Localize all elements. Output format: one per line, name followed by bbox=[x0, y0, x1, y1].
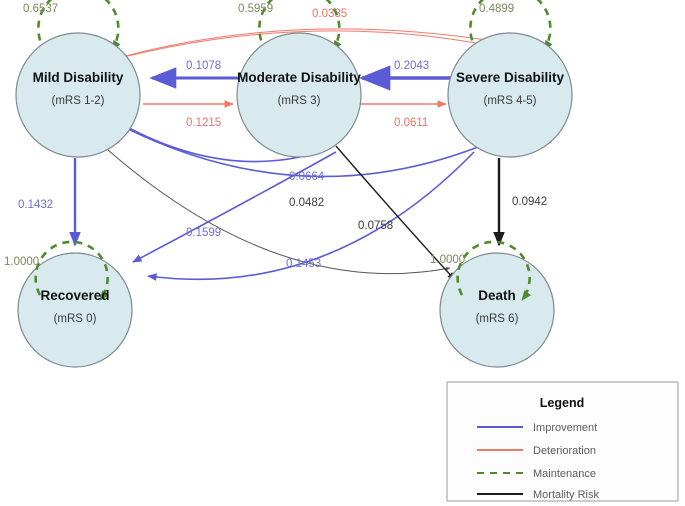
node-circle-death[interactable] bbox=[440, 253, 554, 367]
label-edge-severe-death-diag: 0.0758 bbox=[358, 220, 393, 232]
label-self-loop-severe: 0.4899 bbox=[479, 3, 514, 15]
legend-label-improvement: Improvement bbox=[533, 422, 597, 434]
label-self-loop-recovered: 1.0000 bbox=[4, 256, 39, 268]
node-severe[interactable]: Severe Disability (mRS 4-5) bbox=[448, 33, 572, 157]
label-self-loop-death: 1.0000 bbox=[430, 254, 465, 266]
node-label-death: Death bbox=[478, 288, 516, 303]
label-edge-severe-recovered: 0.1453 bbox=[286, 258, 321, 270]
node-label-moderate: Moderate Disability bbox=[237, 70, 361, 85]
label-self-loop-moderate-deterioration: 0.0335 bbox=[312, 8, 347, 20]
legend-label-deterioration: Deterioration bbox=[533, 445, 596, 457]
node-mild[interactable]: Mild Disability (mRS 1-2) bbox=[16, 33, 140, 157]
label-edge-mild-moderate: 0.1215 bbox=[186, 117, 221, 129]
legend: Legend Improvement Deterioration Mainten… bbox=[447, 382, 678, 501]
node-label-mild: Mild Disability bbox=[33, 70, 124, 85]
label-edge-mild-recovered: 0.1432 bbox=[18, 199, 53, 211]
node-sublabel-death: (mRS 6) bbox=[476, 313, 519, 325]
label-self-loop-mild: 0.6537 bbox=[23, 3, 58, 15]
state-transition-diagram: Mild Disability (mRS 1-2) Moderate Disab… bbox=[0, 0, 685, 506]
label-edge-severe-moderate: 0.2043 bbox=[394, 60, 429, 72]
node-moderate[interactable]: Moderate Disability (mRS 3) bbox=[237, 33, 361, 157]
node-label-recovered: Recovered bbox=[40, 288, 109, 303]
label-edge-severe-death: 0.0942 bbox=[512, 196, 547, 208]
node-sublabel-moderate: (mRS 3) bbox=[278, 95, 321, 107]
label-self-loop-moderate: 0.5959 bbox=[238, 3, 273, 15]
legend-title: Legend bbox=[540, 396, 584, 410]
diagram-canvas: Mild Disability (mRS 1-2) Moderate Disab… bbox=[0, 0, 685, 506]
label-edge-moderate-death: 0.0482 bbox=[289, 197, 324, 209]
label-edge-moderate-severe: 0.0611 bbox=[394, 117, 428, 129]
label-edge-moderate-recovered: 0.1599 bbox=[186, 227, 221, 239]
node-sublabel-severe: (mRS 4-5) bbox=[483, 95, 536, 107]
label-edge-moderate-mild-lower: 0.0664 bbox=[289, 171, 325, 183]
legend-label-maintenance: Maintenance bbox=[533, 468, 596, 480]
node-sublabel-mild: (mRS 1-2) bbox=[51, 95, 104, 107]
node-circle-recovered[interactable] bbox=[18, 253, 132, 367]
label-edge-moderate-mild: 0.1078 bbox=[186, 60, 221, 72]
node-sublabel-recovered: (mRS 0) bbox=[54, 313, 97, 325]
edge-mild-to-death-mortality bbox=[108, 150, 450, 274]
legend-label-mortality: Mortality Risk bbox=[533, 489, 600, 501]
node-label-severe: Severe Disability bbox=[456, 70, 565, 85]
